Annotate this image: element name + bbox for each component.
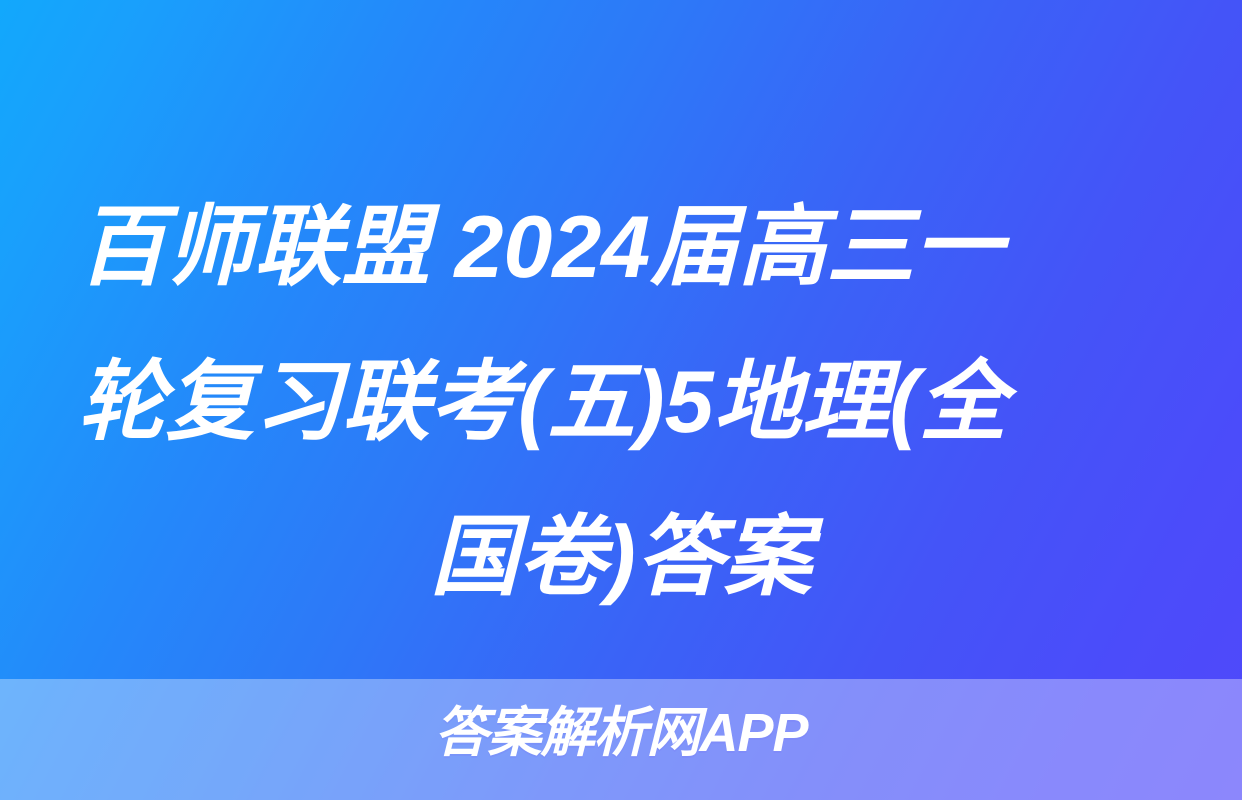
footer-wordmark: 答案解析网APP (0, 697, 1242, 769)
footer-wordmark-label: 答案解析网APP (434, 697, 807, 769)
page-title-line-1: 百师联盟 2024届高三一 (78, 169, 1164, 324)
page-title-line-3: 国卷)答案 (78, 479, 1164, 634)
poster-canvas: 百师联盟 2024届高三一 轮复习联考(五)5地理(全 国卷)答案 答案解析网A… (0, 0, 1242, 800)
page-title: 百师联盟 2024届高三一 轮复习联考(五)5地理(全 国卷)答案 (0, 169, 1242, 634)
page-title-line-2: 轮复习联考(五)5地理(全 (78, 324, 1164, 479)
